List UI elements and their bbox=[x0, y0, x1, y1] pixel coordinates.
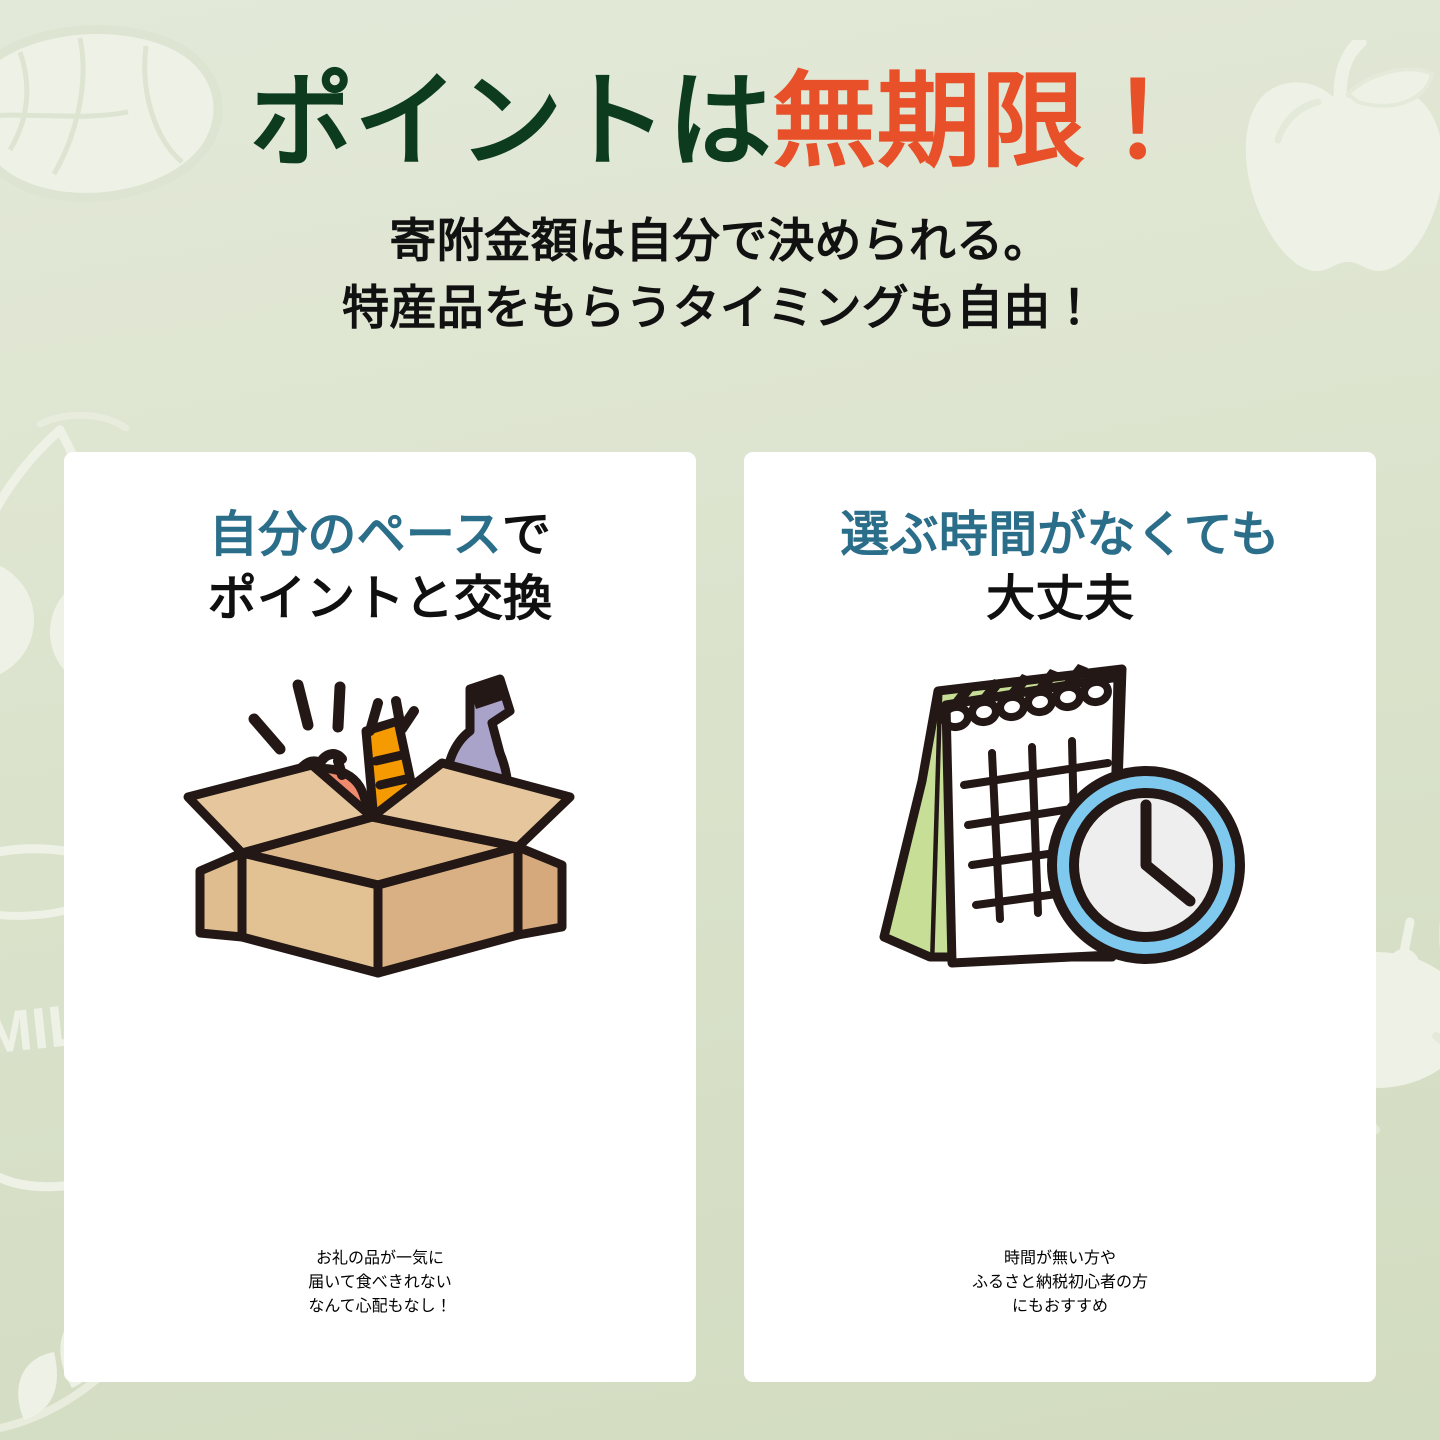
desk-calendar-with-clock-icon bbox=[860, 657, 1260, 987]
card-title-line-2: ポイントと交換 bbox=[208, 568, 553, 632]
motion-line-3 bbox=[338, 687, 340, 727]
card-title: 選ぶ時間がなくても 大丈夫 bbox=[840, 504, 1279, 631]
subtitle-line-1: 寄附金額は自分で決められる。 bbox=[0, 208, 1440, 275]
card-title-line-2: 大丈夫 bbox=[840, 568, 1279, 632]
card-no-time-ok: 選ぶ時間がなくても 大丈夫 bbox=[744, 452, 1376, 1382]
subtitle-line-2: 特産品をもらうタイミングも自由！ bbox=[0, 275, 1440, 342]
card-title: 自分のペースで ポイントと交換 bbox=[208, 504, 553, 631]
page-subtitle: 寄附金額は自分で決められる。 特産品をもらうタイミングも自由！ bbox=[0, 178, 1440, 341]
card-self-pace-exchange: 自分のペースで ポイントと交換 bbox=[64, 452, 696, 1382]
card-title-line-1: 選ぶ時間がなくても bbox=[840, 504, 1279, 568]
headline-part-accent: 無期限！ bbox=[772, 64, 1190, 180]
caption-line-1: お礼の品が一気に bbox=[316, 1244, 444, 1268]
caption-line-3: なんて心配もなし！ bbox=[308, 1292, 451, 1316]
page-headline: ポイントは無期限！ bbox=[0, 0, 1440, 178]
motion-line-2 bbox=[298, 685, 308, 725]
card-title-line-1: 自分のペースで bbox=[208, 504, 553, 568]
headline-part-dark: ポイントは bbox=[250, 64, 773, 180]
caption-line-1: 時間が無い方や bbox=[1004, 1244, 1116, 1268]
card-title-accent: 自分のペース bbox=[209, 508, 502, 562]
analog-clock-icon bbox=[1052, 771, 1240, 959]
promo-graphic: MILK ポイントは無期限！ 寄附金額は自分で決められる。 特産品をもらうタイミ… bbox=[0, 0, 1440, 1440]
card-illustration bbox=[170, 657, 590, 987]
cardboard-box-with-produce-icon bbox=[170, 657, 590, 987]
caption-line-2: 届いて食べきれない bbox=[308, 1268, 452, 1292]
motion-line-1 bbox=[254, 719, 280, 749]
caption-line-2: ふるさと納税初心者の方 bbox=[972, 1268, 1148, 1292]
card-title-plain: で bbox=[502, 508, 551, 562]
card-illustration bbox=[860, 657, 1260, 987]
feature-cards: 自分のペースで ポイントと交換 bbox=[64, 452, 1376, 1382]
caption-line-3: にもおすすめ bbox=[1012, 1292, 1108, 1316]
header: ポイントは無期限！ 寄附金額は自分で決められる。 特産品をもらうタイミングも自由… bbox=[0, 0, 1440, 342]
